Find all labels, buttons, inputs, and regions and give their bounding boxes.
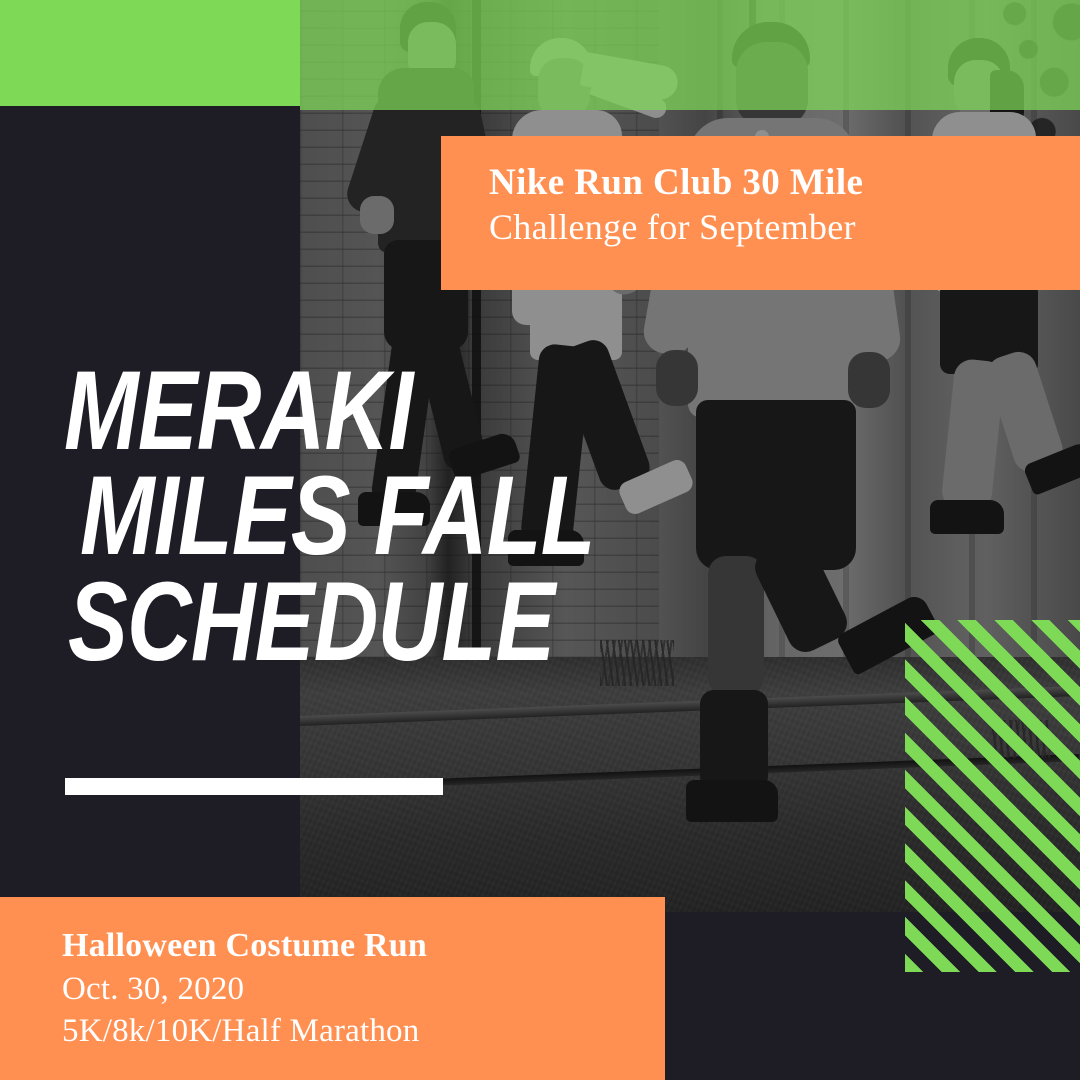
poster-canvas: Nike Run Club 30 Mile Challenge for Sept… xyxy=(0,0,1080,1080)
title-line-1: MERAKI xyxy=(64,358,624,463)
bottom-banner-line1: Halloween Costume Run xyxy=(62,925,665,968)
title-line-2: MILES FALL xyxy=(80,463,627,568)
page-title: MERAKI MILES FALL SCHEDULE xyxy=(64,358,764,674)
title-line-3: SCHEDULE xyxy=(68,569,625,674)
top-banner: Nike Run Club 30 Mile Challenge for Sept… xyxy=(441,136,1080,290)
bottom-banner: Halloween Costume Run Oct. 30, 2020 5K/8… xyxy=(0,897,665,1080)
top-banner-line1: Nike Run Club 30 Mile xyxy=(489,162,1080,203)
top-banner-line2: Challenge for September xyxy=(489,206,1080,248)
green-corner-block xyxy=(0,0,300,106)
bottom-banner-line2: Oct. 30, 2020 xyxy=(62,968,665,1011)
green-diagonal-stripes xyxy=(905,620,1080,972)
title-underline-rule xyxy=(65,778,443,795)
green-overlay-band xyxy=(300,0,1080,110)
bottom-banner-line3: 5K/8k/10K/Half Marathon xyxy=(62,1010,665,1053)
